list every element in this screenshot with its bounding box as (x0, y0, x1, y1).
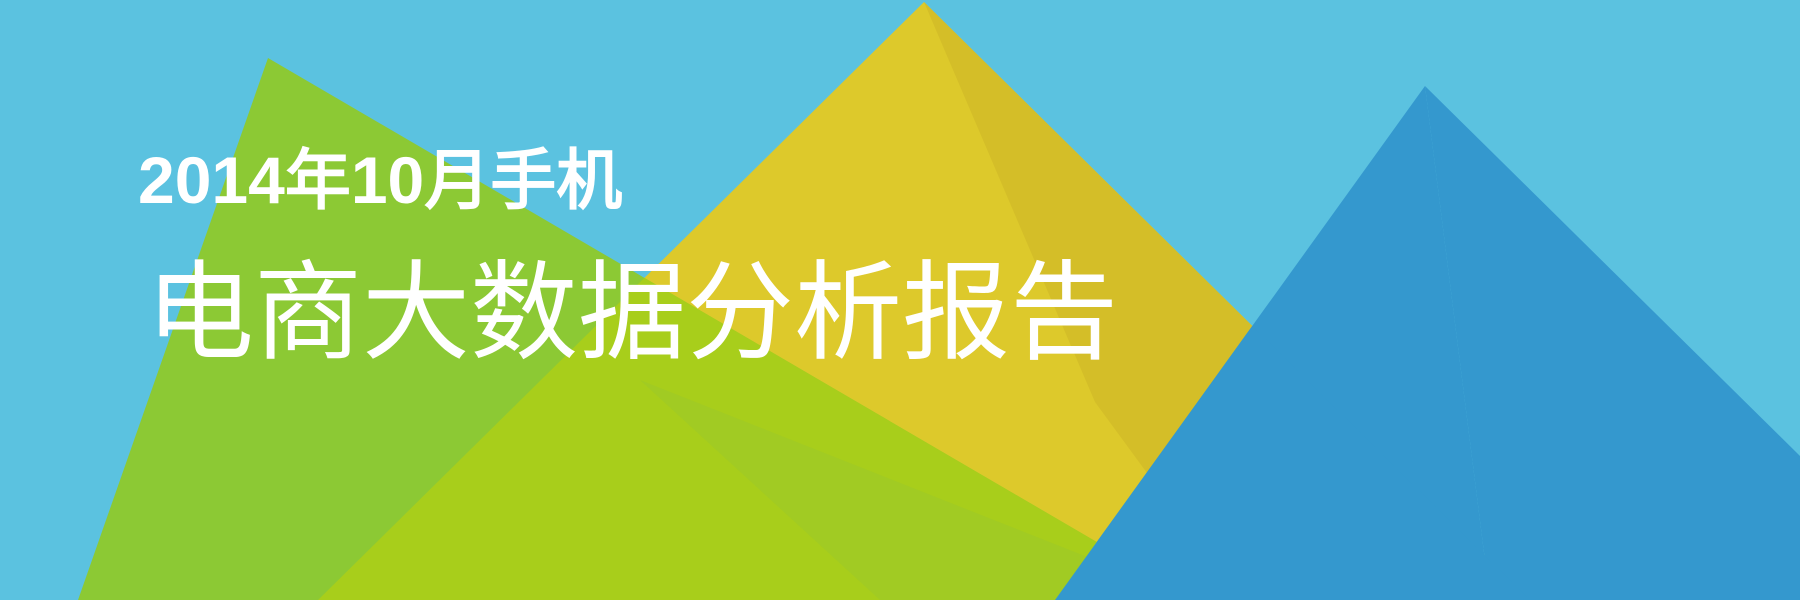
slide-canvas: 2014年10月手机 电商大数据分析报告 (0, 0, 1800, 600)
background-graphic (0, 0, 1800, 600)
